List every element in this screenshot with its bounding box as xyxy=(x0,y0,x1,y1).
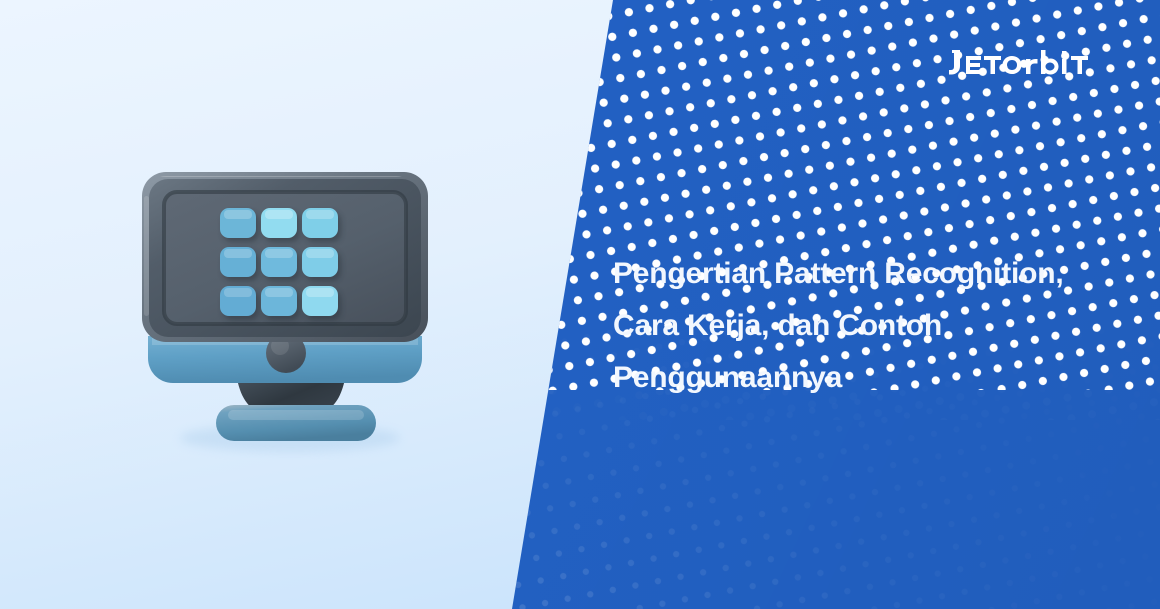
monitor-illustration xyxy=(120,150,450,460)
pattern-tile-r2c2-top xyxy=(265,249,293,258)
monitor-foot-highlight xyxy=(228,410,364,420)
jetorbit-logo[interactable] xyxy=(948,44,1108,84)
pattern-tile-r3c2-top xyxy=(265,288,293,297)
pattern-tile-r3c3-top xyxy=(306,288,334,297)
article-title-line-2: Cara Kerja, dan Contoh xyxy=(613,300,1133,352)
article-title: Pengertian Pattern Recognition, Cara Ker… xyxy=(613,248,1133,404)
monitor-bezel-left-highlight xyxy=(144,196,149,316)
pattern-tile-r2c3-top xyxy=(306,249,334,258)
article-title-line-3: Penggunaannya xyxy=(613,352,1133,404)
pattern-tile-grid xyxy=(220,208,341,320)
monitor-bezel-highlight xyxy=(160,176,402,177)
pattern-tile-r3c1-top xyxy=(224,288,252,297)
logo-wordmark-glyphs xyxy=(949,50,1088,75)
pattern-tile-r1c2-top xyxy=(265,210,293,219)
article-title-line-1: Pengertian Pattern Recognition, xyxy=(613,248,1133,300)
article-thumbnail-banner: Pengertian Pattern Recognition, Cara Ker… xyxy=(0,0,1160,609)
pattern-tile-r1c3-top xyxy=(306,210,334,219)
pattern-tile-r2c1-top xyxy=(224,249,252,258)
pattern-tile-r1c1-top xyxy=(224,210,252,219)
